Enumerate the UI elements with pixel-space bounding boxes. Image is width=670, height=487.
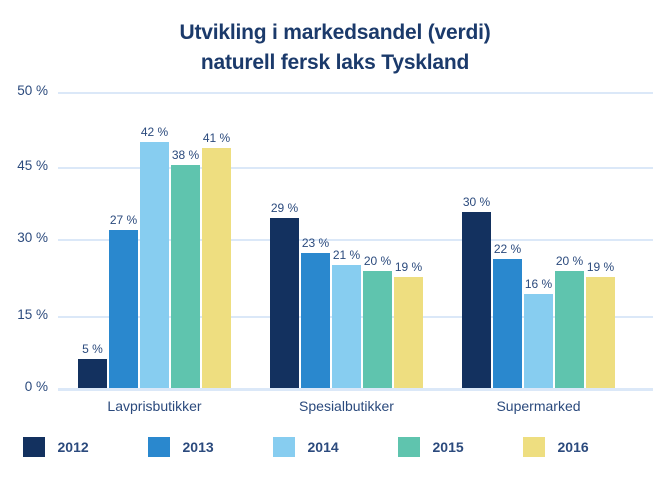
legend-swatch-icon (523, 437, 545, 457)
bar (363, 271, 392, 388)
bar (524, 294, 553, 388)
legend-item[interactable]: 2015 (398, 437, 523, 457)
bar (202, 148, 231, 388)
legend-label: 2016 (558, 439, 589, 455)
bar (171, 165, 200, 388)
legend-label: 2015 (433, 439, 464, 455)
legend-swatch-icon (273, 437, 295, 457)
bar-value-label: 22 % (488, 242, 527, 256)
bar (462, 212, 491, 388)
legend-swatch-icon (148, 437, 170, 457)
bar-value-label: 19 % (389, 260, 428, 274)
y-axis-tick-label: 0 % (0, 379, 48, 394)
legend-item[interactable]: 2014 (273, 437, 398, 457)
legend-label: 2012 (58, 439, 89, 455)
bars-layer: 5 %27 %42 %38 %41 %29 %23 %21 %20 %19 %3… (58, 92, 653, 388)
chart-legend: 20122013201420152016 (0, 437, 670, 457)
legend-item[interactable]: 2013 (148, 437, 273, 457)
bar-value-label: 19 % (581, 260, 620, 274)
category-label: Supermarked (422, 398, 655, 414)
axis-baseline (58, 388, 653, 391)
bar (586, 277, 615, 388)
y-axis-tick-label: 30 % (0, 230, 48, 245)
plot-area: 5 %27 %42 %38 %41 %29 %23 %21 %20 %19 %3… (58, 92, 653, 388)
bar-value-label: 38 % (166, 148, 205, 162)
bar (394, 277, 423, 388)
bar-value-label: 27 % (104, 213, 143, 227)
bar-value-label: 5 % (73, 342, 112, 356)
legend-swatch-icon (23, 437, 45, 457)
chart-title-line-2: naturell fersk laks Tyskland (0, 48, 670, 78)
bar-value-label: 29 % (265, 201, 304, 215)
bar (301, 253, 330, 388)
bar (78, 359, 107, 388)
bar (109, 230, 138, 388)
legend-label: 2014 (308, 439, 339, 455)
legend-swatch-icon (398, 437, 420, 457)
bar-value-label: 41 % (197, 131, 236, 145)
bar (493, 259, 522, 388)
bar (555, 271, 584, 388)
chart-title-line-1: Utvikling i markedsandel (verdi) (0, 18, 670, 48)
legend-item[interactable]: 2012 (23, 437, 148, 457)
chart-page: { "chart_data": { "type": "bar", "title"… (0, 0, 670, 487)
y-axis-tick-label: 50 % (0, 83, 48, 98)
legend-label: 2013 (183, 439, 214, 455)
y-axis-tick-label: 15 % (0, 307, 48, 322)
y-axis-tick-label: 45 % (0, 158, 48, 173)
legend-item[interactable]: 2016 (523, 437, 648, 457)
bar (332, 265, 361, 388)
bar-value-label: 42 % (135, 125, 174, 139)
bar-value-label: 30 % (457, 195, 496, 209)
chart-title: Utvikling i markedsandel (verdi) naturel… (0, 18, 670, 78)
bar (140, 142, 169, 388)
bar-value-label: 16 % (519, 277, 558, 291)
bar (270, 218, 299, 388)
